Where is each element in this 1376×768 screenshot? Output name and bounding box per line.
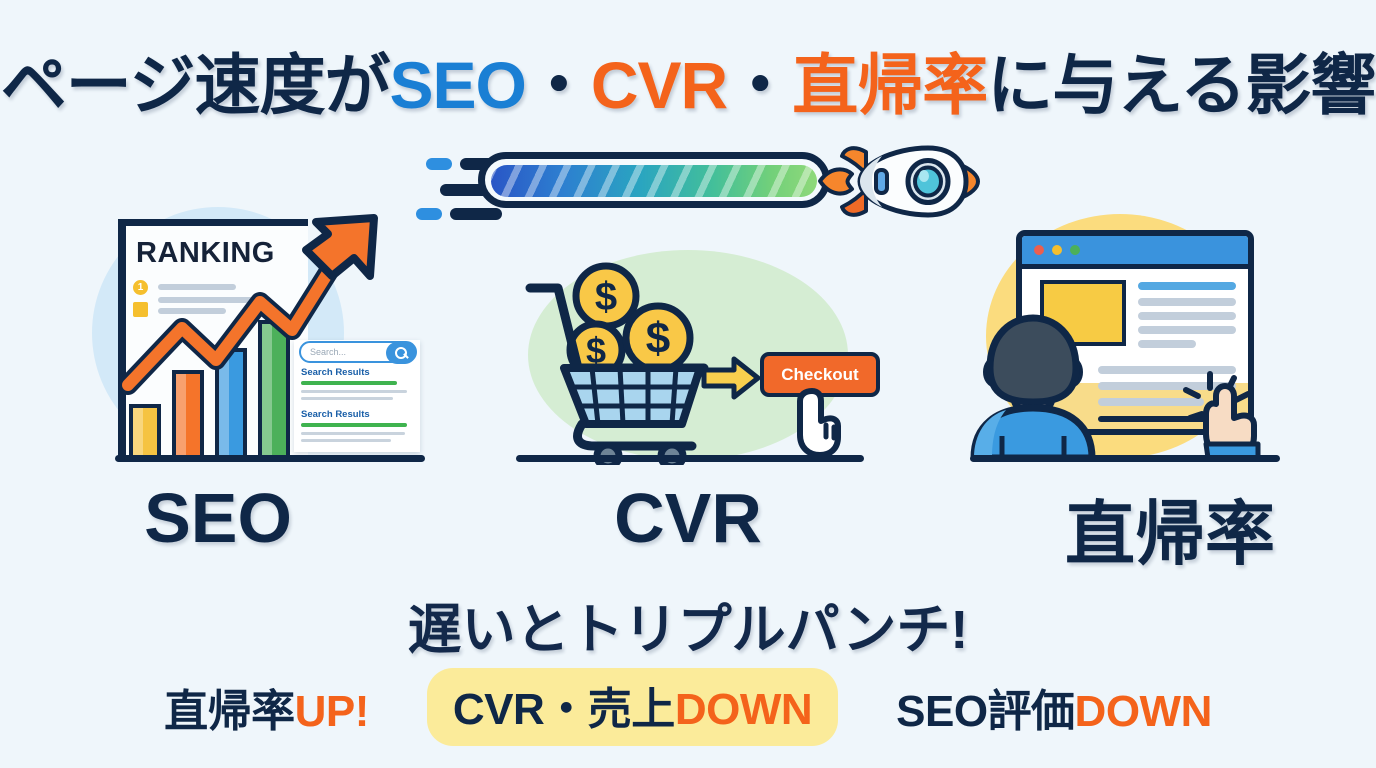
badge-bounce-up: 直帰率UP! <box>164 675 369 739</box>
magnifier-icon[interactable] <box>386 342 416 364</box>
search-result-title[interactable]: Search Results <box>301 367 370 378</box>
badge-accent: UP! <box>295 687 369 736</box>
speed-line-icon <box>450 208 502 220</box>
title-separator-2: ・ <box>727 48 792 122</box>
right-arrow-icon <box>700 355 762 401</box>
hand-pointer-icon <box>790 385 860 460</box>
label-seo: SEO <box>48 478 388 558</box>
progress-bar-fill <box>491 165 817 197</box>
result-text-line <box>301 432 405 435</box>
badge-text: SEO評価 <box>896 687 1074 736</box>
traffic-light-maximize-icon <box>1070 245 1080 255</box>
title-bounce-rate: 直帰率 <box>792 48 987 122</box>
title-separator-1: ・ <box>526 48 591 122</box>
coin-symbol: $ <box>646 314 670 363</box>
cvr-baseline <box>516 455 864 462</box>
badge-text: CVR・売上 <box>453 685 675 734</box>
infographic-canvas: ページ速度がSEO・CVR・直帰率に与える影響 RANKING 1 <box>0 0 1376 768</box>
result-text-line <box>301 390 407 393</box>
content-text-line <box>1138 312 1236 320</box>
title-cvr: CVR <box>591 48 727 122</box>
result-text-line <box>301 397 393 400</box>
badge-text: 直帰率 <box>164 687 295 736</box>
result-text-line <box>301 439 391 442</box>
coin-symbol: $ <box>595 275 617 319</box>
page-title: ページ速度がSEO・CVR・直帰率に与える影響 <box>0 32 1376 128</box>
rocket-icon <box>808 134 988 229</box>
title-part-2: に与える影響 <box>987 48 1375 122</box>
search-input[interactable]: Search... <box>299 341 417 363</box>
bounce-baseline <box>970 455 1280 462</box>
badge-accent: DOWN <box>675 685 812 734</box>
content-text-line <box>1138 298 1236 306</box>
traffic-light-close-icon <box>1034 245 1044 255</box>
speed-line-icon <box>416 208 442 220</box>
seo-baseline <box>115 455 425 462</box>
label-bounce: 直帰率 <box>1000 478 1340 579</box>
click-hand-icon <box>1178 366 1288 464</box>
content-heading-line <box>1138 282 1236 290</box>
result-underline <box>301 423 407 427</box>
badge-accent: DOWN <box>1075 687 1212 736</box>
search-placeholder: Search... <box>310 347 346 357</box>
label-cvr: CVR <box>518 478 858 558</box>
speed-line-icon <box>426 158 452 170</box>
person-back-view-icon <box>968 310 1098 460</box>
badge-cvr-sales-down: CVR・売上DOWN <box>427 668 838 746</box>
tagline: 遅いとトリプルパンチ! <box>0 585 1376 664</box>
ranking-bar <box>129 404 161 460</box>
badge-seo-rating-down: SEO評価DOWN <box>896 675 1212 739</box>
title-part-1: ページ速度が <box>1 48 390 122</box>
title-seo: SEO <box>389 48 525 122</box>
search-result-title[interactable]: Search Results <box>301 409 370 420</box>
browser-title-bar <box>1022 236 1248 269</box>
progress-bar-track <box>478 152 830 208</box>
result-underline <box>301 381 397 385</box>
content-text-line <box>1138 326 1236 334</box>
content-text-line <box>1138 340 1196 348</box>
traffic-light-minimize-icon <box>1052 245 1062 255</box>
speed-progress-group <box>408 132 988 232</box>
summary-badges: 直帰率UP! CVR・売上DOWN SEO評価DOWN <box>0 672 1376 742</box>
